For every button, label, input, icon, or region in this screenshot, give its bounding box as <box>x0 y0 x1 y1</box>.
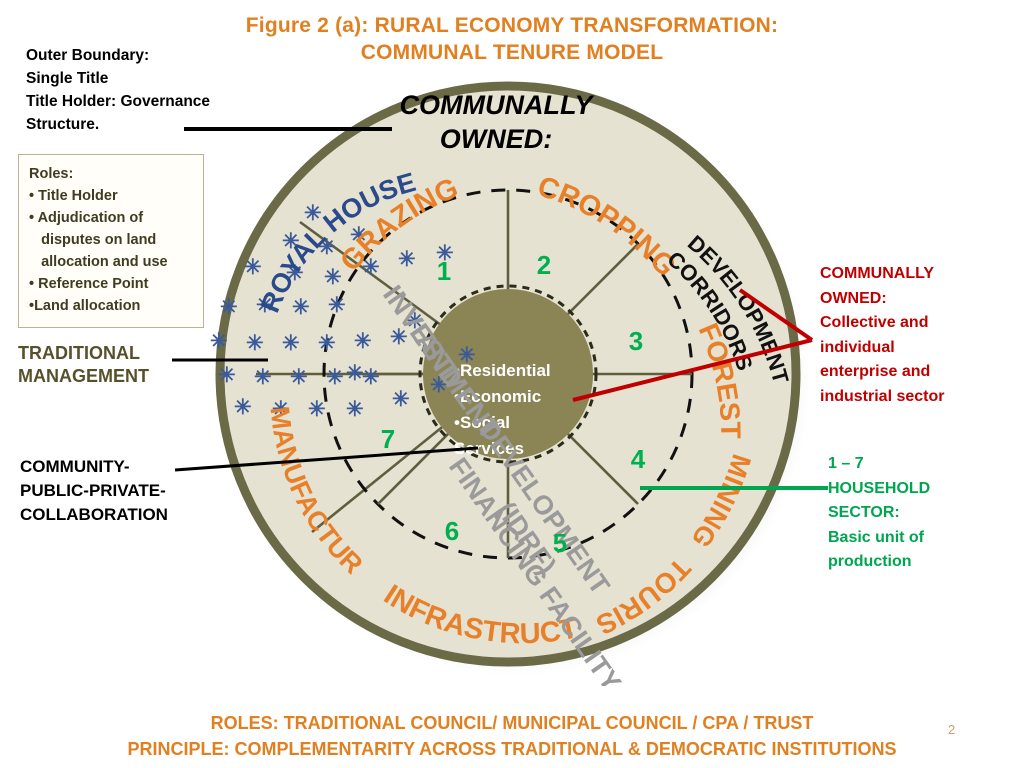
leader-line-community-collaboration <box>175 448 478 470</box>
slide-canvas: Figure 2 (a): RURAL ECONOMY TRANSFORMATI… <box>0 0 1024 768</box>
leader-lines-layer <box>0 0 1024 768</box>
page-number: 2 <box>948 722 955 737</box>
leader-line-communally-owned-b <box>573 340 812 400</box>
footer-line-1: ROLES: TRADITIONAL COUNCIL/ MUNICIPAL CO… <box>0 710 1024 736</box>
footer-line-2: PRINCIPLE: COMPLEMENTARITY ACROSS TRADIT… <box>0 736 1024 762</box>
footer-text: ROLES: TRADITIONAL COUNCIL/ MUNICIPAL CO… <box>0 710 1024 762</box>
leader-line-communally-owned-a <box>740 290 812 340</box>
